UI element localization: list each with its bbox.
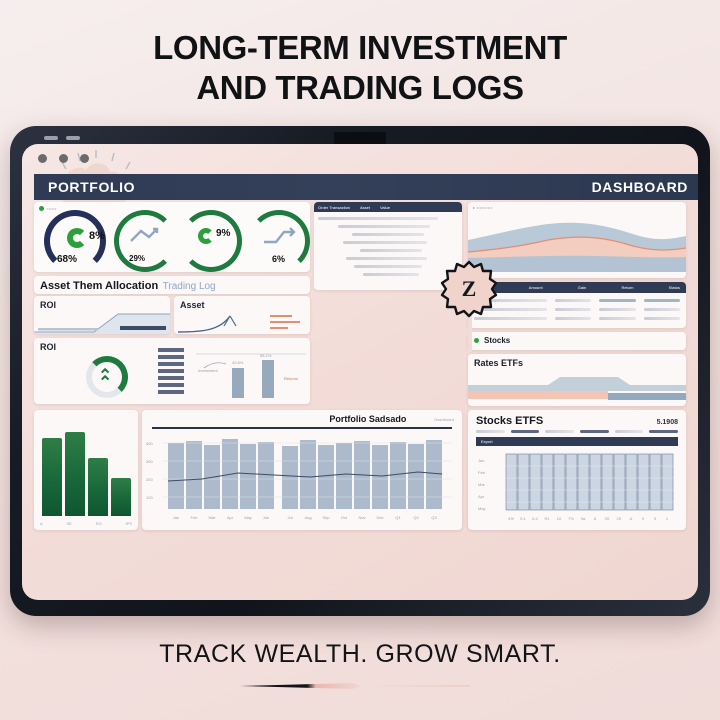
rates-etfs-panel: Rates ETFs (468, 354, 686, 406)
roi-card-1-title: ROI (34, 296, 170, 310)
donut-3-inner-label: 9% (216, 228, 230, 239)
svg-text:Apr: Apr (478, 494, 485, 499)
svg-text:Jan: Jan (173, 515, 179, 520)
window-dot-maximize[interactable] (80, 154, 89, 163)
area-chart-svg (468, 210, 686, 272)
speaker-grille-left (44, 136, 58, 140)
green-bar-axis-labels: ASEROIPS (40, 521, 132, 526)
rates-etfs-title: Rates ETFs (468, 354, 686, 368)
svg-text:Q3: Q3 (431, 515, 437, 520)
svg-text:Oct: Oct (341, 515, 348, 520)
green-bar-chart (40, 430, 132, 516)
donut-4-arrow-icon (262, 226, 296, 246)
window-dot-minimize[interactable] (59, 154, 68, 163)
roi-card-1: ROI (34, 296, 170, 334)
rtable-col-5: Status (669, 285, 680, 290)
svg-text:10: 10 (557, 516, 562, 521)
header-title-dashboard: DASHBOARD (592, 179, 688, 195)
allocation-title: Asset Them Allocation (34, 277, 158, 292)
svg-text:4%: 4% (508, 516, 514, 521)
chevron-up-icon: ⌃⌃ (98, 368, 112, 391)
svg-text:Jan: Jan (478, 458, 484, 463)
svg-text:R1: R1 (544, 516, 550, 521)
donut-2-arrow-icon (129, 227, 159, 245)
tagline: TRACK WEALTH. GROW SMART. (0, 640, 720, 669)
allocation-title-bar: Asset Them Allocation Trading Log (34, 276, 310, 294)
headline-line-2: AND TRADING LOGS (0, 68, 720, 108)
donut-1-inner-label: 8% (89, 230, 105, 242)
rates-etfs-chart (468, 371, 686, 405)
svg-text:Feb: Feb (191, 515, 199, 520)
donut-1-inner (67, 228, 87, 248)
svg-text:Dec: Dec (376, 515, 383, 520)
midtable-col-3: Value (380, 205, 390, 210)
poster-canvas: LONG-TERM INVESTMENT AND TRADING LOGS PO… (0, 0, 720, 720)
svg-text:5.1: 5.1 (520, 516, 526, 521)
etfs-title: Stocks ETFS (476, 415, 543, 427)
svg-text:Investment: Investment (198, 368, 218, 373)
green-bar-3 (88, 458, 108, 516)
etfs-column-grid: JanFebMar AprMay 4%5.16.4 R1107% 9a83S 2… (476, 448, 678, 526)
midtable-col-2: Asset (360, 205, 370, 210)
speaker-grille-right (66, 136, 80, 140)
svg-text:Q2: Q2 (413, 515, 419, 520)
svg-text:May: May (244, 515, 252, 520)
svg-text:9a: 9a (581, 516, 586, 521)
svg-text:5: 5 (654, 516, 657, 521)
svg-text:Apr: Apr (227, 515, 234, 520)
midtable-col-1: Order Transaction (318, 205, 350, 210)
svg-text:2K: 2K (617, 516, 622, 521)
svg-text:Jul: Jul (287, 515, 292, 520)
header-title-portfolio: PORTFOLIO (48, 179, 135, 195)
green-bar-1 (42, 438, 62, 516)
svg-text:Aug: Aug (304, 515, 311, 520)
tablet-screen: PORTFOLIO DASHBOARD •••••• 8% 68% 29% (22, 144, 698, 600)
portfolio-chart-panel: Portfolio Sadsado Dashboard (142, 410, 462, 530)
rtable-col-3: Gain (578, 285, 586, 290)
etfs-value: 5.1908 (657, 419, 678, 426)
roi-card-2: ROI ⌃⌃ Investment (34, 338, 310, 404)
donut-4-outer-label: 6% (272, 254, 285, 264)
allocation-subtitle: Trading Log (163, 281, 216, 292)
svg-text:100: 100 (146, 495, 153, 500)
svg-text:3S: 3S (605, 516, 610, 521)
donut-caption-1: •••••• (47, 206, 57, 211)
rtable-col-2: Amount (529, 285, 543, 290)
asset-card-title: Asset (174, 296, 310, 310)
donut-2-outer-label: 29% (129, 254, 145, 263)
svg-text:Sep: Sep (322, 515, 330, 520)
svg-text:Mar: Mar (209, 515, 217, 520)
kpi-donut-panel: •••••• 8% 68% 29% 9% (34, 202, 310, 272)
rtable-col-4: Return (621, 285, 633, 290)
svg-text:8: 8 (594, 516, 597, 521)
svg-text:Jun: Jun (263, 515, 269, 520)
svg-text:7%: 7% (568, 516, 574, 521)
page-title: LONG-TERM INVESTMENT AND TRADING LOGS (0, 28, 720, 108)
badge-glyph: Z (440, 260, 498, 318)
holdings-table-panel: Investment Amount Gain Return Status (468, 282, 686, 328)
etfs-band-label: Export (481, 439, 493, 444)
area-chart-caption: ▸ •••••••••• (468, 202, 686, 210)
svg-text:May: May (478, 506, 486, 511)
portfolio-chart-title: Portfolio Sadsado (329, 414, 406, 424)
asset-card: Asset (174, 296, 310, 334)
svg-text:Returns: Returns (284, 376, 298, 381)
green-bar-chart-panel: ASEROIPS (34, 410, 138, 530)
status-dot-icon (39, 206, 44, 211)
portfolio-column-chart: 400300200100 JanFebMar AprMayJun JulAugS… (142, 429, 462, 523)
window-dot-close[interactable] (38, 154, 47, 163)
svg-text:58.1%: 58.1% (260, 353, 272, 358)
svg-text:200: 200 (146, 477, 153, 482)
svg-text:300: 300 (146, 459, 153, 464)
svg-text:400: 400 (146, 441, 153, 446)
rtable-body (468, 293, 686, 326)
tablet-device: PORTFOLIO DASHBOARD •••••• 8% 68% 29% (10, 126, 710, 616)
stocks-status-dot-icon (474, 338, 479, 343)
etfs-tabs[interactable] (468, 427, 686, 433)
asset-card-chart (174, 310, 310, 334)
donut-1-outer-label: 68% (57, 254, 77, 265)
performance-area-chart: ▸ •••••••••• (468, 202, 686, 278)
roi-card-1-chart (34, 310, 170, 334)
dashboard-header: PORTFOLIO DASHBOARD (34, 174, 698, 200)
headline-line-1: LONG-TERM INVESTMENT (153, 29, 567, 66)
svg-text:1: 1 (666, 516, 669, 521)
portfolio-chart-note: Dashboard (434, 417, 454, 422)
stocks-label: Stocks (484, 336, 510, 345)
green-bar-2 (65, 432, 85, 516)
svg-text:Mar: Mar (478, 482, 486, 487)
arrow-decoration (0, 678, 720, 694)
etfs-panel: Stocks ETFS 5.1908 Export (468, 410, 686, 530)
svg-text:Q1: Q1 (395, 515, 401, 520)
svg-text:A: A (630, 516, 633, 521)
svg-text:Nov: Nov (358, 515, 365, 520)
highlight-badge[interactable]: Z (440, 260, 498, 318)
roi-legend-bars (158, 348, 184, 394)
svg-text:6.4: 6.4 (532, 516, 538, 521)
svg-text:9: 9 (642, 516, 645, 521)
stocks-row[interactable]: Stocks (468, 332, 686, 350)
roi-bar-mini-chart: Investment 42.8% 58.1% Returns (196, 350, 306, 400)
svg-text:42.8%: 42.8% (232, 360, 244, 365)
green-bar-4 (111, 478, 131, 516)
svg-text:Feb: Feb (478, 470, 486, 475)
window-controls[interactable] (38, 154, 89, 163)
donut-3-inner (198, 228, 214, 244)
